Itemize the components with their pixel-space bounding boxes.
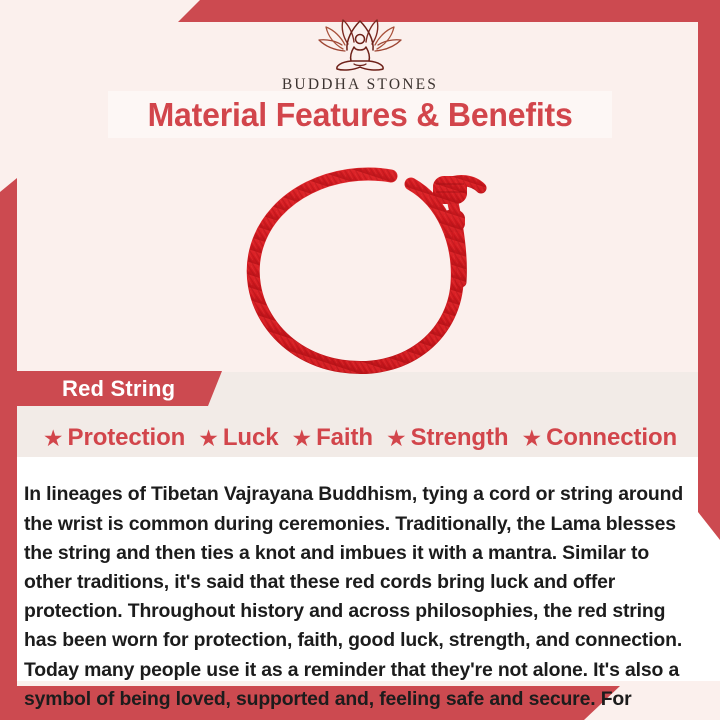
brand-logo: BUDDHA STONES — [0, 14, 720, 94]
infographic-poster: BUDDHA STONES Material Features & Benefi… — [0, 0, 720, 720]
decorative-frame-left-bar — [0, 178, 17, 720]
benefit-item: ★ Luck — [198, 424, 278, 452]
benefits-row: ★ Protection ★ Luck ★ Faith ★ Strength ★… — [17, 420, 703, 456]
star-icon: ★ — [43, 427, 64, 450]
benefit-label: Protection — [68, 424, 186, 452]
product-label-banner: Red String — [0, 371, 222, 406]
benefit-item: ★ Faith — [291, 424, 372, 452]
star-icon: ★ — [291, 427, 312, 450]
benefit-item: ★ Protection — [43, 424, 185, 452]
product-image — [215, 150, 515, 385]
description-text: In lineages of Tibetan Vajrayana Buddhis… — [24, 480, 696, 720]
benefit-label: Strength — [411, 424, 509, 452]
lotus-meditation-icon — [308, 14, 412, 72]
benefit-item: ★ Strength — [386, 424, 509, 452]
page-title-band: Material Features & Benefits — [108, 91, 612, 138]
product-label: Red String — [62, 376, 175, 402]
page-title: Material Features & Benefits — [147, 96, 572, 134]
star-icon: ★ — [521, 427, 542, 450]
red-string-bracelet-image — [215, 150, 515, 385]
benefit-label: Luck — [223, 424, 279, 452]
star-icon: ★ — [198, 427, 219, 450]
benefit-item: ★ Connection — [521, 424, 677, 452]
star-icon: ★ — [386, 427, 407, 450]
benefit-label: Connection — [546, 424, 677, 452]
benefit-label: Faith — [316, 424, 373, 452]
